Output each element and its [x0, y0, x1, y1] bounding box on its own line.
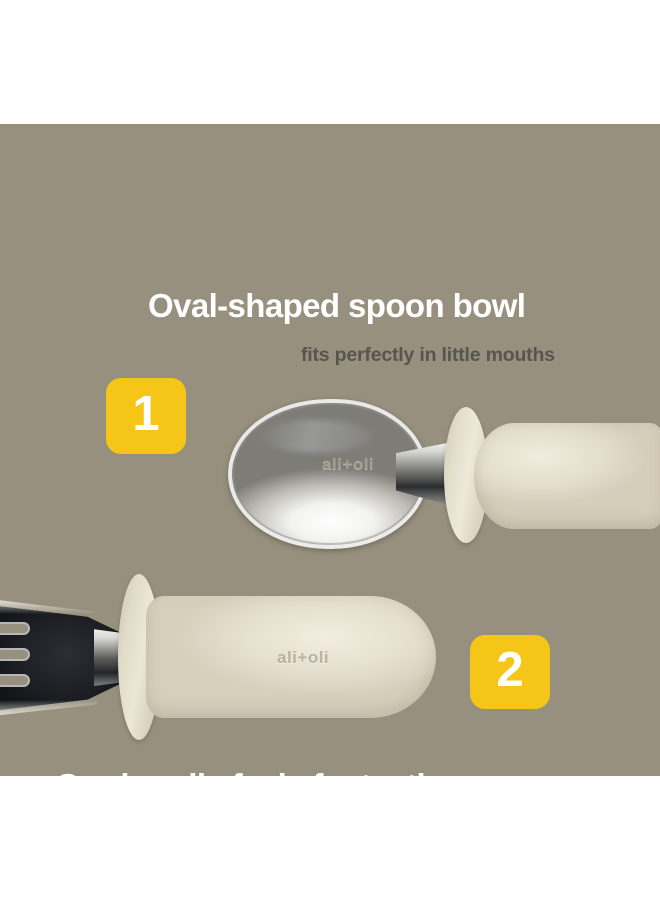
- feature-2-headline: Our handle feels fantastic: [55, 769, 443, 776]
- feature-1-subline: fits perfectly in little mouths: [301, 346, 555, 366]
- fork-product-photo: [0, 572, 450, 742]
- badge-number: 1: [132, 390, 159, 439]
- photo-panel: ali+oli ali+oli Oval-shaped spoon bowl f…: [0, 124, 660, 776]
- badge-number: 2: [496, 646, 523, 695]
- feature-1-headline: Oval-shaped spoon bowl: [148, 289, 525, 322]
- fork-tine-gap: [0, 650, 28, 659]
- feature-1-number-badge: 1: [106, 378, 186, 454]
- fork-tine-gap: [0, 676, 28, 685]
- feature-2-number-badge: 2: [470, 635, 550, 709]
- product-feature-image: ali+oli ali+oli Oval-shaped spoon bowl f…: [0, 0, 660, 900]
- fork-handle-embossed-brand: ali+oli: [277, 648, 329, 668]
- spoon-silicone-handle: [474, 423, 660, 529]
- fork-tine-gap: [0, 624, 28, 633]
- spoon-handle-embossed-brand: ali+oli: [322, 454, 374, 474]
- spoon-product-photo: [228, 394, 660, 554]
